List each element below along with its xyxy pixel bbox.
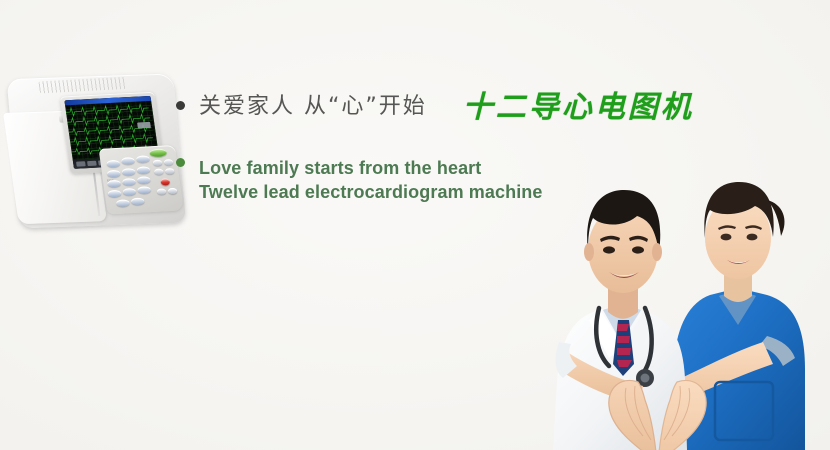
keypad-key[interactable] [136,166,150,174]
stop-button[interactable] [160,178,170,185]
keypad-key[interactable] [106,160,120,168]
ecg-product-banner: ECG 关爱家人 从“心 [0,0,830,450]
keypad-key[interactable] [137,176,151,184]
ecg-machine-image: ECG [0,62,194,250]
nav-down-button[interactable] [165,168,175,174]
start-button[interactable] [149,148,167,157]
nav-right-button[interactable] [164,159,174,165]
display-status-tag [137,122,151,129]
doctor-ear-right [652,243,662,261]
menu-button[interactable] [157,188,167,194]
tagline-line-2: Twelve lead electrocardiogram machine [199,180,543,204]
bullet-icon-green [176,158,185,167]
keypad-key[interactable] [107,180,121,188]
tagline-block: Love family starts from the heart Twelve… [199,156,543,205]
headline-chinese: 关爱家人 从“心”开始 [199,88,427,120]
keypad-key[interactable] [136,155,150,163]
keypad-key[interactable] [116,199,130,207]
keypad-key[interactable] [137,186,151,194]
softkey[interactable] [87,161,97,166]
keypad-key[interactable] [107,190,121,198]
doctor-ear-left [584,243,594,261]
keypad-key[interactable] [131,198,145,206]
nav-up-button[interactable] [153,160,163,166]
people-illustration [505,120,830,450]
doctor-and-nurse-photo [505,120,830,450]
keypad-key[interactable] [107,170,121,178]
tagline-line-1: Love family starts from the heart [199,156,543,180]
softkey[interactable] [76,161,86,166]
keypad-key[interactable] [122,168,136,176]
stethoscope-diaphragm [641,374,650,383]
device-keypad: ECG [99,145,184,214]
bullet-icon [176,101,185,110]
keypad-key[interactable] [122,188,136,196]
keypad-key[interactable] [121,157,135,165]
keypad-key[interactable] [122,178,136,186]
nav-left-button[interactable] [154,169,164,175]
